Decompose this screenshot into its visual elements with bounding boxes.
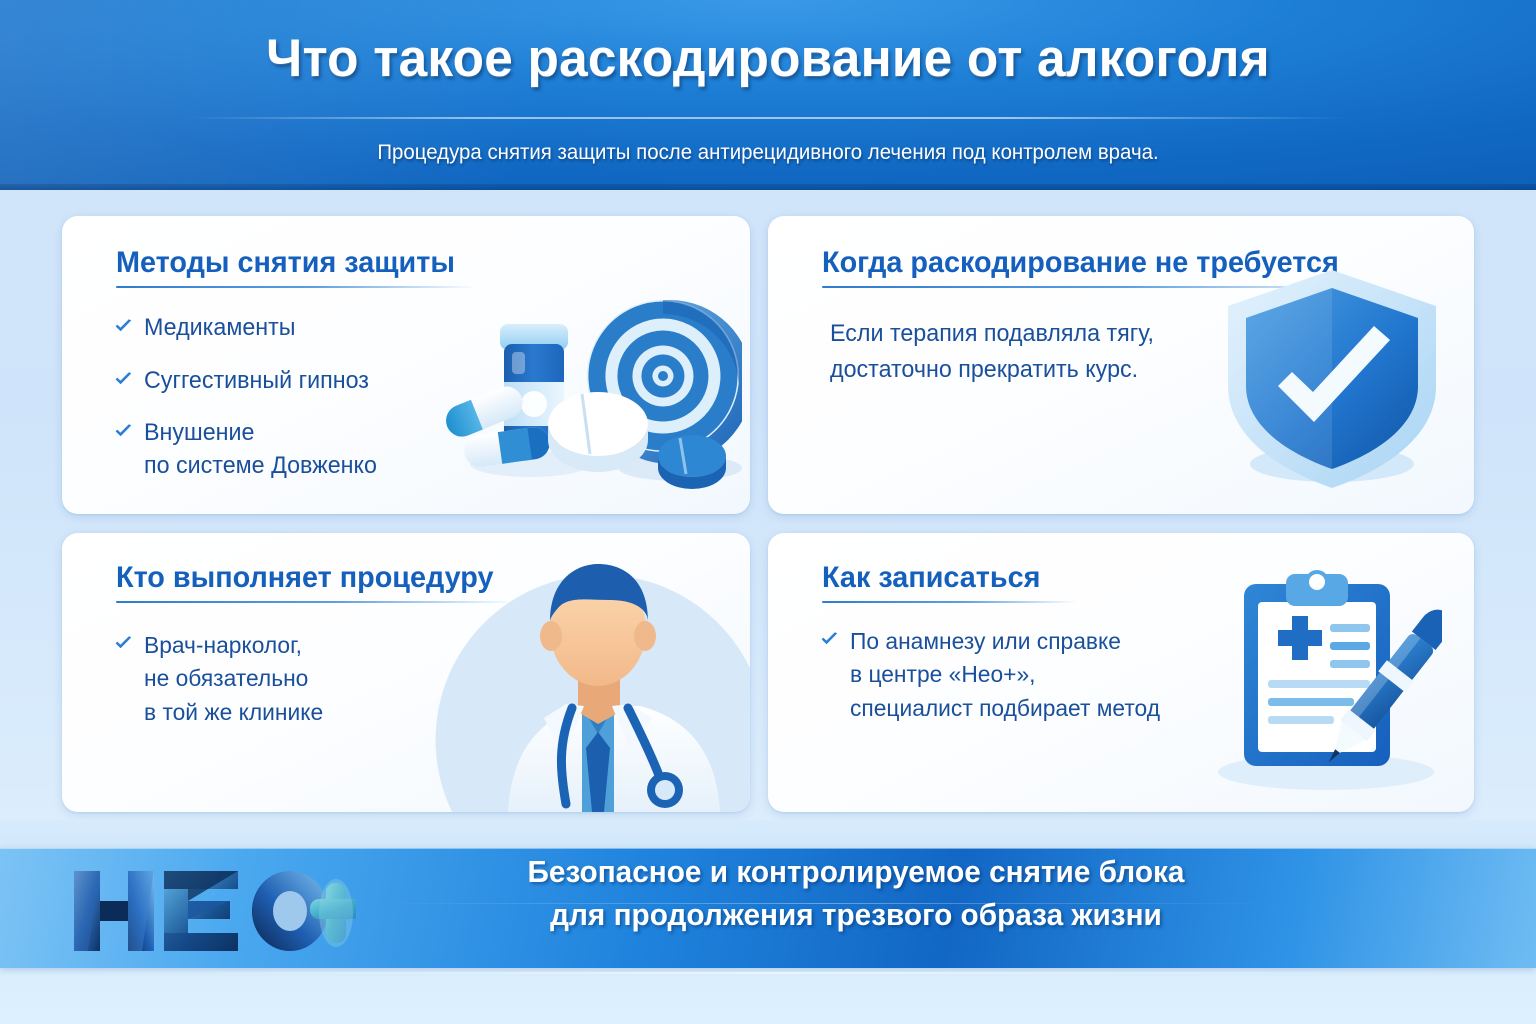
neo-plus-logo bbox=[66, 855, 356, 965]
list-item: Внушение по системе Довженко bbox=[114, 417, 544, 482]
card-not-required: Когда раскодирование не требуется Если т… bbox=[768, 216, 1474, 514]
bullet-list: По анамнезу или справке в центре «Нео+»,… bbox=[820, 625, 1250, 731]
list-item: Медикаменты bbox=[114, 312, 544, 345]
check-icon bbox=[114, 372, 133, 393]
footer-tagline: Безопасное и контролируемое снятие блока… bbox=[376, 850, 1336, 937]
tagline-line-1: Безопасное и контролируемое снятие блока bbox=[528, 854, 1185, 889]
check-icon bbox=[820, 632, 839, 653]
tagline-line-2: для продолжения трезвого образа жизни bbox=[376, 893, 1336, 936]
card-title: Когда раскодирование не требуется bbox=[822, 246, 1339, 280]
card-title-divider bbox=[116, 601, 516, 603]
card-title-divider bbox=[822, 601, 1077, 603]
page-title: Что такое раскодирование от алкоголя bbox=[23, 28, 1513, 89]
card-title: Кто выполняет процедуру bbox=[116, 561, 494, 595]
card-who-performs: Кто выполняет процедуру Врач-нарколог, н… bbox=[62, 533, 750, 812]
check-icon bbox=[114, 424, 133, 445]
bullet-list: Медикаменты Суггестивный гипноз Внушение… bbox=[114, 312, 544, 503]
list-item-label: Суггестивный гипноз bbox=[144, 365, 369, 398]
list-item-label: Внушение по системе Довженко bbox=[144, 417, 377, 482]
check-icon bbox=[114, 319, 133, 340]
list-item: Суггестивный гипноз bbox=[114, 365, 544, 398]
list-item-label: Медикаменты bbox=[144, 312, 296, 345]
card-how-to-book: Как записаться По анамнезу или справке в… bbox=[768, 533, 1474, 812]
bullet-list: Врач-нарколог, не обязательно в той же к… bbox=[114, 629, 464, 735]
card-body-text: Если терапия подавляла тягу, достаточно … bbox=[830, 316, 1247, 388]
card-title: Методы снятия защиты bbox=[116, 246, 455, 280]
list-item-label: Врач-нарколог, не обязательно в той же к… bbox=[144, 629, 323, 729]
card-title-divider bbox=[822, 286, 1377, 288]
title-divider bbox=[190, 117, 1346, 119]
card-title: Как записаться bbox=[822, 561, 1040, 595]
infographic-poster: Что такое раскодирование от алкоголя Про… bbox=[0, 0, 1536, 1024]
shield-check-icon bbox=[1214, 262, 1450, 498]
card-grid: Методы снятия защиты Медикаменты Суггест… bbox=[62, 216, 1474, 812]
poster-header: Что такое раскодирование от алкоголя Про… bbox=[0, 0, 1536, 190]
card-methods: Методы снятия защиты Медикаменты Суггест… bbox=[62, 216, 750, 514]
check-icon bbox=[114, 636, 133, 657]
list-item: По анамнезу или справке в центре «Нео+»,… bbox=[820, 625, 1250, 725]
list-item: Врач-нарколог, не обязательно в той же к… bbox=[114, 629, 464, 729]
card-title-divider bbox=[116, 286, 476, 288]
list-item-label: По анамнезу или справке в центре «Нео+»,… bbox=[850, 625, 1160, 725]
page-subtitle: Процедура снятия защиты после антирециди… bbox=[38, 140, 1497, 165]
